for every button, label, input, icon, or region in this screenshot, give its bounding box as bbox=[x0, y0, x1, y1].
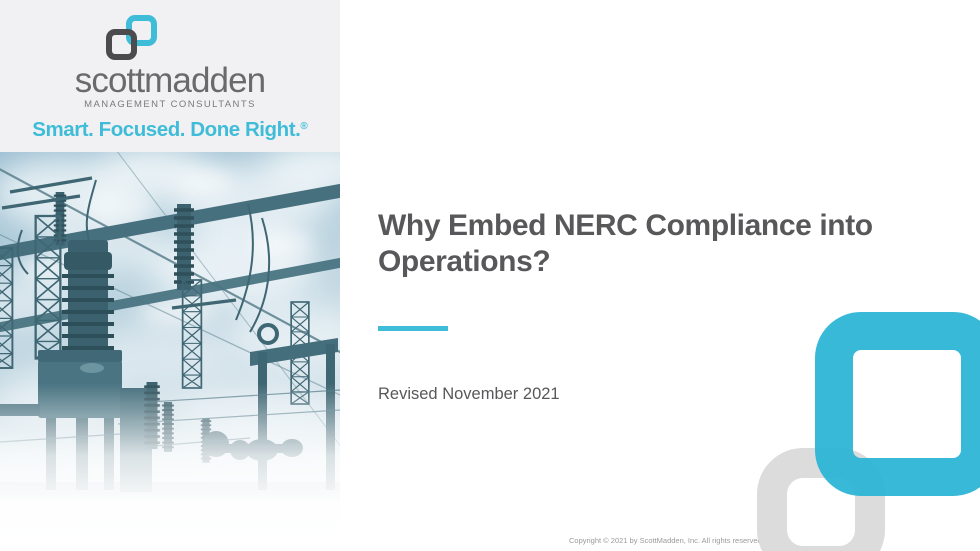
left-brand-panel: scottmadden MANAGEMENT CONSULTANTS Smart… bbox=[0, 0, 340, 551]
scottmadden-logo-icon bbox=[104, 15, 160, 63]
brand-header: scottmadden MANAGEMENT CONSULTANTS Smart… bbox=[0, 0, 340, 152]
brand-wordmark-subtitle: MANAGEMENT CONSULTANTS bbox=[0, 99, 340, 110]
decorative-rounded-square-cyan-icon bbox=[815, 312, 980, 496]
registered-mark: ® bbox=[300, 121, 307, 132]
title-divider bbox=[378, 326, 448, 331]
brand-tagline-text: Smart. Focused. Done Right. bbox=[32, 118, 300, 141]
title-slide: scottmadden MANAGEMENT CONSULTANTS Smart… bbox=[0, 0, 980, 551]
corner-decoration bbox=[750, 300, 980, 551]
brand-tagline: Smart. Focused. Done Right.® bbox=[0, 118, 340, 142]
copyright-notice: Copyright © 2021 by ScottMadden, Inc. Al… bbox=[569, 536, 764, 545]
slide-subtitle: Revised November 2021 bbox=[378, 385, 560, 404]
page-title: Why Embed NERC Compliance into Operation… bbox=[378, 208, 918, 280]
logo-square-dark-icon bbox=[106, 29, 137, 60]
decorative-rounded-square-gray-icon bbox=[757, 448, 885, 551]
substation-photo bbox=[0, 152, 340, 551]
brand-wordmark: scottmadden bbox=[0, 62, 340, 100]
